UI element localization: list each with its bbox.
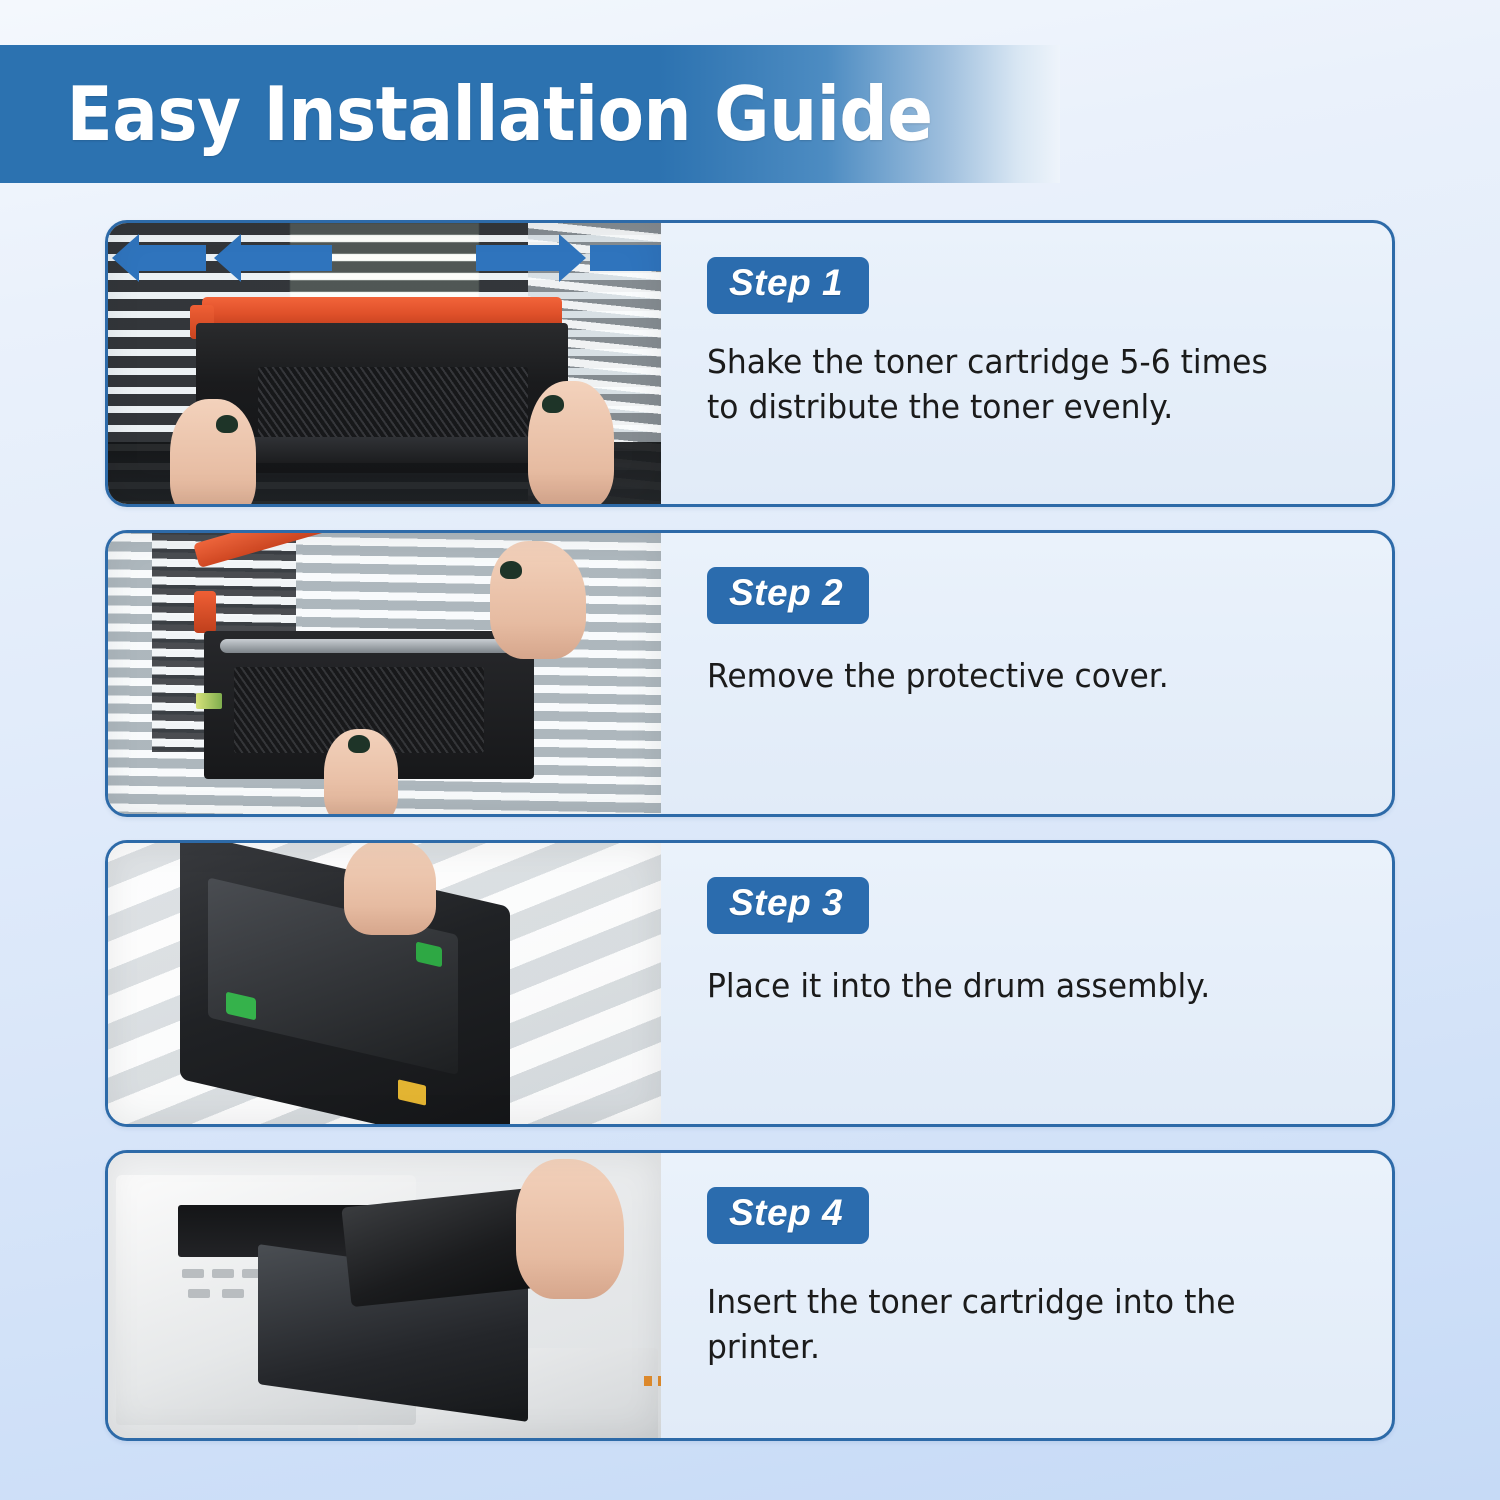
step-1-photo — [108, 223, 661, 504]
shake-arrow-right-outer-icon — [590, 245, 661, 271]
right-hand — [528, 381, 614, 504]
upper-hand-nail — [500, 561, 522, 579]
toner-chip — [196, 693, 222, 709]
orange-cover-end — [194, 591, 216, 633]
shake-arrow-left-inner-icon — [240, 245, 332, 271]
step-1-description: Shake the toner cartridge 5-6 times to d… — [707, 340, 1296, 430]
left-hand-nail — [216, 415, 238, 433]
toner-roller — [220, 639, 520, 653]
step-3-text-area: Step 3 Place it into the drum assembly. — [661, 843, 1392, 1124]
hand-inserting-cartridge — [516, 1159, 624, 1299]
step-card-2: Step 2 Remove the protective cover. — [105, 530, 1395, 817]
printer-label-strip — [644, 1376, 661, 1386]
toner-bottom-strip — [248, 437, 548, 463]
step-3-description: Place it into the drum assembly. — [707, 964, 1296, 1009]
lower-hand-nail — [348, 735, 370, 753]
drum-yellow-contact — [398, 1079, 426, 1105]
shake-arrow-right-inner-icon — [476, 245, 560, 271]
step-4-badge: Step 4 — [707, 1187, 869, 1244]
step-3-badge: Step 3 — [707, 877, 869, 934]
step-4-photo — [108, 1153, 661, 1438]
left-hand — [170, 399, 256, 504]
step-4-text-area: Step 4 Insert the toner cartridge into t… — [661, 1153, 1392, 1438]
step-3-photo — [108, 843, 661, 1124]
step-1-text-area: Step 1 Shake the toner cartridge 5-6 tim… — [661, 223, 1392, 504]
right-hand-nail — [542, 395, 564, 413]
page-title: Easy Installation Guide — [0, 70, 933, 158]
step-2-description: Remove the protective cover. — [707, 654, 1296, 699]
step-4-description: Insert the toner cartridge into the prin… — [707, 1280, 1296, 1370]
step-2-badge: Step 2 — [707, 567, 869, 624]
hand-holding-toner — [344, 843, 436, 935]
lower-hand — [324, 729, 398, 814]
shake-arrow-left-outer-icon — [138, 245, 206, 271]
step-card-1: Step 1 Shake the toner cartridge 5-6 tim… — [105, 220, 1395, 507]
step-2-text-area: Step 2 Remove the protective cover. — [661, 533, 1392, 814]
step-card-3: Step 3 Place it into the drum assembly. — [105, 840, 1395, 1127]
printer-button[interactable] — [222, 1289, 244, 1298]
step-1-badge: Step 1 — [707, 257, 869, 314]
upper-hand — [490, 541, 586, 659]
header-banner: Easy Installation Guide — [0, 45, 1060, 183]
printer-button[interactable] — [212, 1269, 234, 1278]
printer-button[interactable] — [182, 1269, 204, 1278]
printer-button[interactable] — [188, 1289, 210, 1298]
step-card-4: Step 4 Insert the toner cartridge into t… — [105, 1150, 1395, 1441]
step-2-photo — [108, 533, 661, 814]
